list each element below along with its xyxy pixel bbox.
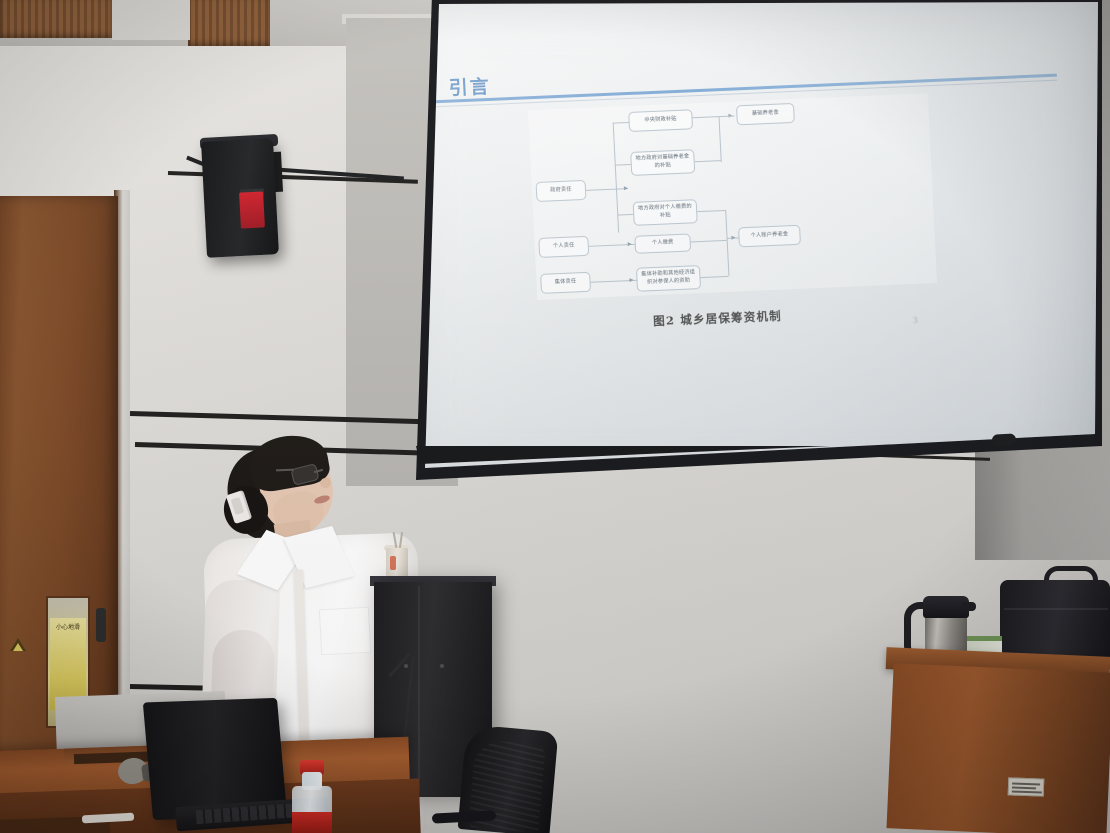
screen-surface: 引言 政府责任 个人责任 集体责任 中央财政补贴 地方政府对基础养老金的补贴 地… bbox=[392, 0, 1102, 494]
diagram-node-basic-pension: 基础养老金 bbox=[736, 103, 795, 125]
speaker-red-label bbox=[239, 191, 265, 228]
diagram-arrow bbox=[629, 278, 633, 282]
caution-triangle-inner bbox=[13, 643, 23, 651]
wood-slat-panel-left bbox=[0, 0, 112, 38]
slide-title: 引言 bbox=[448, 72, 491, 101]
projection-screen: 引言 政府责任 个人责任 集体责任 中央财政补贴 地方政府对基础养老金的补贴 地… bbox=[392, 0, 1102, 494]
diagram-node-collective-assistance: 集体补助和其他经济组织对参保人的资助 bbox=[636, 265, 701, 292]
wood-slat-panel-right bbox=[188, 0, 270, 46]
diagram-arrow bbox=[624, 186, 628, 190]
diagram-node-government: 政府责任 bbox=[536, 180, 587, 202]
figure-caption: 图2 城乡居保筹资机制 bbox=[552, 303, 883, 333]
diagram-node-personal-account-pension: 个人账户养老金 bbox=[738, 225, 801, 248]
door-handle[interactable] bbox=[96, 608, 106, 642]
diagram-backing-plate bbox=[528, 93, 937, 300]
diagram-arrow bbox=[628, 242, 632, 246]
projected-slide: 引言 政府责任 个人责任 集体责任 中央财政补贴 地方政府对基础养老金的补贴 地… bbox=[392, 0, 1110, 493]
thermos-spout bbox=[962, 602, 976, 611]
wall-pilaster bbox=[112, 0, 190, 40]
diagram-node-individual-contribution: 个人缴费 bbox=[634, 233, 691, 253]
diagram-node-local-basic-pension-subsidy: 地方政府对基础养老金的补贴 bbox=[630, 149, 695, 176]
slide-title-rule bbox=[431, 74, 1057, 104]
cabinet-screw bbox=[440, 664, 444, 668]
sign-text-line-top: 小心地滑 bbox=[50, 622, 86, 631]
diagram-arrow bbox=[731, 236, 735, 240]
wooden-podium bbox=[887, 663, 1110, 833]
shirt-pocket bbox=[319, 607, 371, 656]
cup-logo bbox=[390, 556, 396, 570]
diagram-node-central-subsidy: 中央财政补贴 bbox=[628, 109, 693, 132]
diagram-node-individual: 个人责任 bbox=[538, 236, 589, 258]
lecture-hall-photo: 小心地滑 引言 政府责任 个人责任 集体责任 bbox=[0, 0, 1110, 833]
cabinet-screw bbox=[404, 664, 408, 668]
screen-roller-knob[interactable] bbox=[992, 433, 1017, 446]
diagram-node-collective: 集体责任 bbox=[540, 272, 591, 294]
asset-label-plate bbox=[1008, 777, 1045, 796]
diagram-node-local-individual-contribution-subsidy: 地方政府对个人缴费的补贴 bbox=[633, 199, 698, 226]
slide-page-number: 3 bbox=[913, 316, 919, 325]
bottle-label bbox=[292, 812, 332, 833]
bag-zipper bbox=[1004, 608, 1108, 610]
cabinet-door-seam bbox=[418, 586, 420, 791]
